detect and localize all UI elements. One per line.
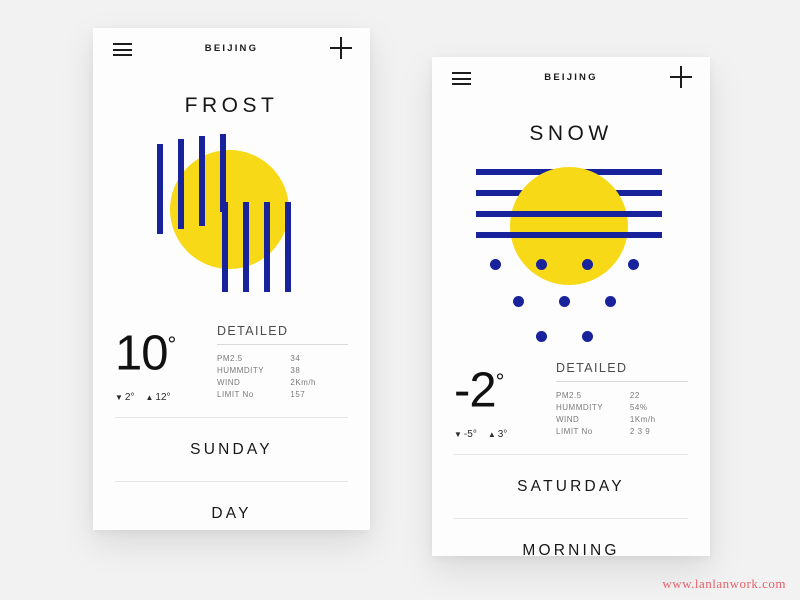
detail-value: 1Km/h (630, 413, 688, 425)
low-temperature-value: -5° (464, 429, 477, 440)
temperature-block: 10° ▼2° ▲12° (115, 320, 207, 403)
detail-value: 157 (290, 388, 348, 400)
detail-label: LIMIT No (556, 425, 630, 437)
weather-card-snow[interactable]: BEIJING SNOW (432, 57, 710, 556)
frost-illustration (93, 132, 370, 312)
table-row: LIMIT No 157 (217, 388, 348, 400)
up-arrow-icon: ▲ (488, 430, 496, 439)
snow-dot (582, 331, 593, 342)
app-canvas: BEIJING FROST 10° (0, 0, 800, 600)
weather-card-frost[interactable]: BEIJING FROST 10° (93, 28, 370, 530)
detail-value: 2 3 9 (630, 425, 688, 437)
detail-value: 54% (630, 401, 688, 413)
detail-value: 38 (290, 364, 348, 376)
card-topbar: BEIJING (93, 28, 370, 72)
frost-bar (264, 202, 270, 292)
readings-section: -2° ▼-5° ▲3° DETAILED PM2.5 22 (432, 357, 710, 440)
snow-line (559, 211, 662, 217)
frost-bar (157, 144, 163, 234)
low-temperature-value: 2° (125, 392, 135, 403)
snow-line (476, 211, 559, 217)
card-topbar: BEIJING (432, 57, 710, 101)
min-max-row: ▼-5° ▲3° (454, 429, 546, 440)
frost-bar (285, 202, 291, 292)
table-row: LIMIT No 2 3 9 (556, 425, 688, 437)
high-temperature-value: 3° (498, 429, 508, 440)
frost-bar (220, 134, 226, 212)
degree-symbol: ° (496, 369, 504, 394)
table-row: HUMMDITY 38 (217, 364, 348, 376)
detail-table: PM2.5 34 HUMMDITY 38 WIND 2Km/h LIMIT (217, 352, 348, 400)
high-temperature-value: 12° (155, 392, 170, 403)
detail-table: PM2.5 22 HUMMDITY 54% WIND 1Km/h LIMIT (556, 389, 688, 437)
low-temperature: ▼-5° (454, 429, 477, 440)
detail-value: 34 (290, 352, 348, 364)
temperature-block: -2° ▼-5° ▲3° (454, 357, 546, 440)
readings-section: 10° ▼2° ▲12° DETAILED PM2.5 34 (93, 320, 370, 403)
down-arrow-icon: ▼ (115, 393, 123, 402)
frost-bar (178, 139, 184, 229)
table-row: WIND 2Km/h (217, 376, 348, 388)
frost-bar (199, 136, 205, 226)
period-row[interactable]: MORNING (432, 519, 710, 582)
period-row[interactable]: DAY (93, 482, 370, 545)
frost-bar (222, 202, 228, 292)
temperature-value: 10 (115, 326, 168, 380)
sun-circle (510, 167, 628, 285)
city-label: BEIJING (93, 43, 370, 54)
detailed-title: DETAILED (556, 361, 688, 381)
condition-title: SNOW (432, 122, 710, 146)
site-watermark: www.lanlanwork.com (662, 576, 786, 592)
table-row: PM2.5 34 (217, 352, 348, 364)
detailed-divider (217, 344, 348, 345)
day-row[interactable]: SATURDAY (432, 455, 710, 518)
high-temperature: ▲3° (488, 429, 507, 440)
add-city-icon[interactable] (670, 66, 692, 88)
detail-label: PM2.5 (556, 389, 630, 401)
detail-label: WIND (217, 376, 290, 388)
detailed-divider (556, 381, 688, 382)
menu-icon-line (452, 83, 471, 85)
snow-line (552, 232, 662, 238)
condition-title: FROST (93, 94, 370, 118)
current-temperature: 10° (115, 320, 207, 378)
detail-label: HUMMDITY (217, 364, 290, 376)
city-label: BEIJING (432, 72, 710, 83)
low-temperature: ▼2° (115, 392, 134, 403)
snow-dot (536, 259, 547, 270)
detailed-panel: DETAILED PM2.5 22 HUMMDITY 54% WIND (546, 357, 688, 437)
table-row: PM2.5 22 (556, 389, 688, 401)
snow-dot (582, 259, 593, 270)
degree-symbol: ° (168, 332, 176, 357)
day-row[interactable]: SUNDAY (93, 418, 370, 481)
detail-value: 2Km/h (290, 376, 348, 388)
detail-label: WIND (556, 413, 630, 425)
table-row: HUMMDITY 54% (556, 401, 688, 413)
min-max-row: ▼2° ▲12° (115, 392, 207, 403)
snow-illustration (432, 159, 710, 349)
detail-label: HUMMDITY (556, 401, 630, 413)
snow-dot (605, 296, 616, 307)
add-city-icon[interactable] (330, 37, 352, 59)
snow-dot (628, 259, 639, 270)
frost-bar (243, 202, 249, 292)
snow-dot (513, 296, 524, 307)
snow-line (476, 232, 552, 238)
down-arrow-icon: ▼ (454, 430, 462, 439)
sun-circle (170, 150, 289, 269)
snow-dot (536, 331, 547, 342)
detail-value: 22 (630, 389, 688, 401)
menu-icon-line (113, 54, 132, 56)
snow-dot (559, 296, 570, 307)
detail-label: PM2.5 (217, 352, 290, 364)
detailed-panel: DETAILED PM2.5 34 HUMMDITY 38 WIND (207, 320, 348, 400)
temperature-value: -2 (454, 363, 496, 417)
up-arrow-icon: ▲ (145, 393, 153, 402)
detail-label: LIMIT No (217, 388, 290, 400)
current-temperature: -2° (454, 357, 546, 415)
snow-dot (490, 259, 501, 270)
detailed-title: DETAILED (217, 324, 348, 344)
table-row: WIND 1Km/h (556, 413, 688, 425)
high-temperature: ▲12° (145, 392, 170, 403)
